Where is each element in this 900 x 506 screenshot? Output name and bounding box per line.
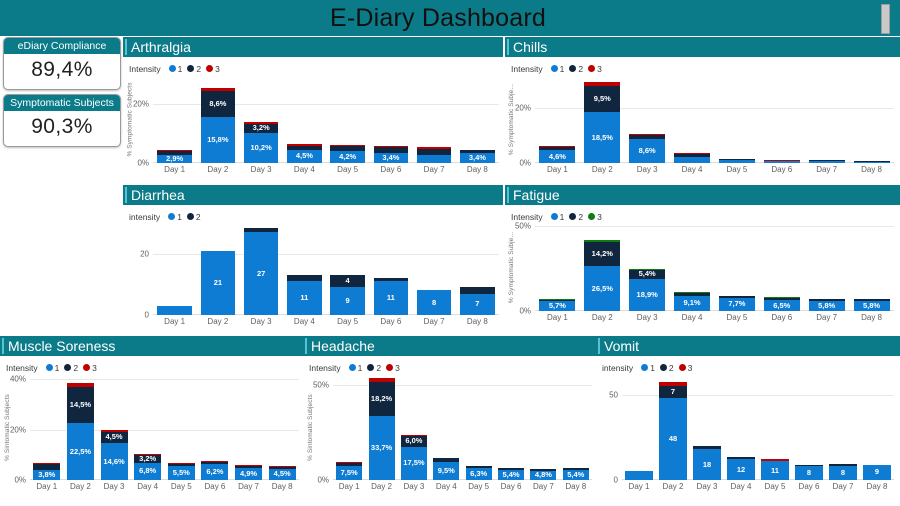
- legend-item-2[interactable]: 2: [187, 212, 201, 222]
- bar-value-label: 18,9%: [637, 291, 658, 299]
- x-axis-tick-label[interactable]: Day 2: [196, 163, 239, 174]
- bar-column[interactable]: 6,3%: [463, 374, 495, 480]
- bar-column[interactable]: 5,5%: [165, 374, 199, 480]
- x-axis-tick-label[interactable]: Day 4: [670, 311, 715, 322]
- x-axis-tick-label[interactable]: Day 7: [804, 311, 849, 322]
- stacked-bar[interactable]: [674, 153, 710, 163]
- bar-segment-intensity-1[interactable]: 5,4%: [498, 470, 524, 480]
- bar-column[interactable]: 6,2%: [198, 374, 232, 480]
- bar-value-label: 6,5%: [773, 302, 790, 310]
- legend-item-2[interactable]: 2: [187, 64, 201, 74]
- x-axis-tick-label[interactable]: Day 6: [495, 480, 527, 491]
- y-axis-tick-label: 0%: [317, 476, 329, 485]
- legend-item-label: 3: [597, 64, 602, 74]
- bar-column[interactable]: 748: [656, 374, 690, 480]
- bar-column[interactable]: 18,2%33,7%: [365, 374, 397, 480]
- x-axis-tick-label[interactable]: Day 6: [369, 163, 412, 174]
- bar-column[interactable]: 7: [456, 223, 499, 315]
- stacked-bar[interactable]: [764, 160, 800, 163]
- bar-value-label: 7,5%: [341, 469, 358, 477]
- bar-segment-intensity-1[interactable]: [417, 155, 452, 163]
- bar-segment-intensity-1[interactable]: 11: [374, 281, 409, 315]
- legend-item-label: 2: [376, 363, 381, 373]
- stacked-bar[interactable]: 14,5%22,5%: [67, 383, 94, 480]
- bar-segment-intensity-2[interactable]: 9,5%: [584, 86, 620, 112]
- bar-segment-intensity-1[interactable]: 9,5%: [433, 462, 459, 480]
- x-axis-tick-label[interactable]: Day 8: [265, 480, 299, 491]
- bar-segment-intensity-1[interactable]: 6,8%: [134, 463, 161, 480]
- bar-segment-intensity-1[interactable]: 14,6%: [101, 443, 128, 480]
- x-axis-tick-label[interactable]: Day 2: [580, 311, 625, 322]
- dashboard-header: E-Diary Dashboard: [0, 0, 900, 36]
- bar-column[interactable]: 11: [283, 223, 326, 315]
- legend-item-3[interactable]: 3: [83, 363, 97, 373]
- bar-column[interactable]: 5,4%: [495, 374, 527, 480]
- x-axis-tick-label[interactable]: Day 6: [369, 315, 412, 326]
- y-axis-tick-label: 0%: [14, 476, 26, 485]
- bar-segment-intensity-2[interactable]: 4: [330, 275, 365, 287]
- x-axis-tick-label[interactable]: Day 5: [326, 315, 369, 326]
- bar-segment-intensity-2[interactable]: 4,5%: [101, 432, 128, 443]
- x-axis-tick-label[interactable]: Day 4: [283, 163, 326, 174]
- bar-segment-intensity-1[interactable]: 26,5%: [584, 266, 620, 311]
- x-axis-tick-label[interactable]: Day 7: [232, 480, 266, 491]
- stacked-bar[interactable]: [809, 160, 845, 163]
- x-axis-tick-label[interactable]: Day 5: [715, 311, 760, 322]
- bar-segment-intensity-1[interactable]: 18,5%: [584, 112, 620, 163]
- bar-segment-intensity-2[interactable]: 3,2%: [244, 124, 279, 133]
- bar-segment-intensity-1[interactable]: 3,4%: [374, 153, 409, 163]
- bar-segment-intensity-1[interactable]: 27: [244, 232, 279, 315]
- stacked-bar[interactable]: 748: [659, 382, 686, 480]
- stacked-bar[interactable]: [157, 306, 192, 315]
- bar-column[interactable]: 5,4%18,9%: [625, 223, 670, 311]
- bar-segment-intensity-1[interactable]: 18: [693, 449, 720, 480]
- bar-value-label: 18: [703, 461, 711, 469]
- x-axis-tick-label[interactable]: Day 4: [430, 480, 462, 491]
- legend-item-1[interactable]: 1: [551, 212, 565, 222]
- stacked-bar[interactable]: 3,2%10,2%: [244, 122, 279, 163]
- bar-column[interactable]: [759, 75, 804, 163]
- bar-column[interactable]: 3,2%10,2%: [240, 75, 283, 163]
- stacked-bar[interactable]: 12: [727, 457, 754, 480]
- stacked-bar[interactable]: 3,4%: [374, 146, 409, 163]
- bar-value-label: 8: [841, 469, 845, 477]
- bar-column[interactable]: 9,5%18,5%: [580, 75, 625, 163]
- legend-item-2[interactable]: 2: [367, 363, 381, 373]
- stacked-bar[interactable]: 9,1%: [674, 292, 710, 311]
- x-axis-tick-label[interactable]: Day 3: [625, 163, 670, 174]
- x-axis-tick-label[interactable]: Day 5: [463, 480, 495, 491]
- bar-segment-intensity-1[interactable]: 4,9%: [235, 468, 262, 480]
- stacked-bar[interactable]: 9,5%: [433, 458, 459, 481]
- bar-segment-intensity-1[interactable]: 4,8%: [530, 471, 556, 480]
- legend-item-3[interactable]: 3: [588, 212, 602, 222]
- stacked-bar[interactable]: 2,9%: [157, 150, 192, 163]
- x-axis-tick-label[interactable]: Day 8: [456, 315, 499, 326]
- bar-column[interactable]: 5,8%: [849, 223, 894, 311]
- x-axis-tick-label[interactable]: Day 8: [849, 311, 894, 322]
- bar-segment-intensity-1[interactable]: [625, 471, 652, 480]
- bar-column[interactable]: 18: [690, 374, 724, 480]
- stacked-bar[interactable]: 8: [795, 465, 822, 480]
- legend-item-2[interactable]: 2: [64, 363, 78, 373]
- bar-segment-intensity-1[interactable]: [674, 157, 710, 163]
- stacked-bar[interactable]: 7: [460, 287, 495, 315]
- x-axis-tick-label[interactable]: Day 8: [456, 163, 499, 174]
- legend-item-3[interactable]: 3: [206, 64, 220, 74]
- bar-segment-intensity-1[interactable]: 9,1%: [674, 296, 710, 311]
- stacked-bar[interactable]: 3,4%: [460, 150, 495, 163]
- bar-segment-intensity-1[interactable]: 8: [829, 466, 856, 480]
- legend-item-1[interactable]: 1: [641, 363, 655, 373]
- legend-item-3[interactable]: 3: [679, 363, 693, 373]
- x-axis-tick-label[interactable]: Day 3: [240, 315, 283, 326]
- legend-title: intensity: [129, 212, 160, 222]
- bar-column[interactable]: 4,6%: [535, 75, 580, 163]
- bar-segment-intensity-1[interactable]: 7: [460, 294, 495, 315]
- bar-column[interactable]: 9,5%: [430, 374, 462, 480]
- stacked-bar[interactable]: 5,4%18,9%: [629, 269, 665, 311]
- bar-column[interactable]: 5,4%: [560, 374, 592, 480]
- legend-swatch-icon: [64, 364, 71, 371]
- bar-segment-intensity-1[interactable]: [764, 161, 800, 163]
- bar-value-label: 22,5%: [70, 448, 91, 456]
- bar-segment-intensity-1[interactable]: 8,6%: [629, 139, 665, 163]
- y-axis-tick-label: 0%: [137, 159, 149, 168]
- legend-item-label: 1: [560, 212, 565, 222]
- stacked-bar[interactable]: 18: [693, 446, 720, 480]
- x-axis-tick-label[interactable]: Day 6: [759, 311, 804, 322]
- x-axis-tick-label[interactable]: Day 5: [758, 480, 792, 491]
- bar-segment-intensity-2[interactable]: 5,4%: [629, 270, 665, 279]
- x-axis-tick-label[interactable]: Day 1: [535, 163, 580, 174]
- x-axis-tick-label[interactable]: Day 1: [153, 163, 196, 174]
- y-axis-tick-label: 0%: [519, 307, 531, 316]
- bar-segment-intensity-1[interactable]: 9: [863, 465, 890, 480]
- grid-area: 3,8%14,5%22,5%4,5%14,6%3,2%6,8%5,5%6,2%4…: [30, 374, 299, 480]
- bar-column[interactable]: 5,8%: [804, 223, 849, 311]
- bar-column[interactable]: 7,7%: [715, 223, 760, 311]
- bar-column[interactable]: 4,9%: [232, 374, 266, 480]
- bar-column[interactable]: 8,6%: [625, 75, 670, 163]
- bar-column[interactable]: [622, 374, 656, 480]
- stacked-bar[interactable]: 27: [244, 228, 279, 315]
- stacked-bar[interactable]: 7,7%: [719, 296, 755, 311]
- bar-column[interactable]: 4,5%: [283, 75, 326, 163]
- stacked-bar[interactable]: 6,3%: [466, 466, 492, 480]
- x-axis-tick-label[interactable]: Day 2: [64, 480, 98, 491]
- kpi-card-ediary-compliance[interactable]: eDiary Compliance 89,4%: [3, 37, 121, 90]
- bar-column[interactable]: 11: [758, 374, 792, 480]
- bar-segment-intensity-1[interactable]: 4,2%: [330, 151, 365, 163]
- bar-segment-intensity-2[interactable]: 18,2%: [369, 382, 395, 416]
- x-axis-tick-label[interactable]: Day 3: [690, 480, 724, 491]
- bar-column[interactable]: 14,2%26,5%: [580, 223, 625, 311]
- legend-item-1[interactable]: 1: [169, 64, 183, 74]
- bar-segment-intensity-1[interactable]: 3,8%: [33, 470, 60, 480]
- x-axis-tick-label[interactable]: Day 8: [560, 480, 592, 491]
- bar-segment-intensity-1[interactable]: 6,2%: [201, 464, 228, 480]
- bar-column[interactable]: 8: [826, 374, 860, 480]
- bar-segment-intensity-2[interactable]: 8,6%: [201, 91, 236, 116]
- x-axis-tick-label[interactable]: Day 7: [826, 480, 860, 491]
- kpi-label: eDiary Compliance: [4, 38, 120, 54]
- bar-segment-intensity-1[interactable]: 33,7%: [369, 416, 395, 480]
- bar-segment-intensity-1[interactable]: 4,5%: [269, 469, 296, 480]
- x-axis-tick-label[interactable]: Day 4: [670, 163, 715, 174]
- stacked-bar[interactable]: 5,8%: [809, 299, 845, 311]
- legend-item-1[interactable]: 1: [46, 363, 60, 373]
- bar-column[interactable]: [413, 75, 456, 163]
- legend-item-1[interactable]: 1: [349, 363, 363, 373]
- stacked-bar[interactable]: 4,5%: [287, 144, 322, 163]
- x-axis-tick-label[interactable]: Day 5: [165, 480, 199, 491]
- bar-segment-intensity-1[interactable]: 5,7%: [539, 301, 575, 311]
- bar-segment-intensity-1[interactable]: 5,4%: [563, 470, 589, 480]
- bar-column[interactable]: 14,5%22,5%: [64, 374, 98, 480]
- stacked-bar[interactable]: 8: [829, 464, 856, 480]
- bar-segment-intensity-1[interactable]: 5,8%: [854, 301, 890, 311]
- bar-column[interactable]: 5,7%: [535, 223, 580, 311]
- panel-title: Diarrhea: [131, 187, 185, 203]
- bar-segment-intensity-1[interactable]: 6,5%: [764, 300, 800, 311]
- x-axis-tick-label[interactable]: Day 1: [535, 311, 580, 322]
- bar-segment-intensity-1[interactable]: 8: [795, 466, 822, 480]
- stacked-bar[interactable]: 6,0%17,5%: [401, 435, 427, 480]
- bar-segment-intensity-1[interactable]: 21: [201, 251, 236, 315]
- x-axis-tick-label[interactable]: Day 1: [153, 315, 196, 326]
- kpi-card-group: eDiary Compliance 89,4% Symptomatic Subj…: [3, 37, 121, 151]
- stacked-bar[interactable]: 5,7%: [539, 299, 575, 311]
- bar-column[interactable]: [715, 75, 760, 163]
- bar-segment-intensity-2[interactable]: 14,5%: [67, 387, 94, 424]
- stacked-bar[interactable]: 9: [863, 465, 890, 480]
- bar-column[interactable]: [153, 223, 196, 315]
- x-axis-tick-label[interactable]: Day 1: [30, 480, 64, 491]
- x-axis-tick-label[interactable]: Day 6: [198, 480, 232, 491]
- bar-column[interactable]: 21: [196, 223, 239, 315]
- x-axis-tick-label[interactable]: Day 2: [656, 480, 690, 491]
- stacked-bar[interactable]: 4,6%: [539, 146, 575, 163]
- x-axis-tick-label[interactable]: Day 6: [759, 163, 804, 174]
- bar-column[interactable]: 7,5%: [333, 374, 365, 480]
- stacked-bar[interactable]: [719, 159, 755, 163]
- bar-column[interactable]: 6,0%17,5%: [398, 374, 430, 480]
- bar-column[interactable]: 9: [860, 374, 894, 480]
- stacked-bar[interactable]: 5,8%: [854, 299, 890, 311]
- bar-column[interactable]: [670, 75, 715, 163]
- bar-segment-intensity-1[interactable]: 7,7%: [719, 298, 755, 311]
- stacked-bar[interactable]: 11: [761, 459, 788, 480]
- stacked-bar[interactable]: 11: [287, 275, 322, 315]
- x-axis-labels: Day 1Day 2Day 3Day 4Day 5Day 6Day 7Day 8: [505, 311, 900, 322]
- bar-segment-intensity-1[interactable]: 8: [417, 290, 452, 315]
- bar-value-label: 6,0%: [405, 437, 422, 445]
- x-axis-tick-label[interactable]: Day 6: [792, 480, 826, 491]
- stacked-bar[interactable]: 8,6%: [629, 134, 665, 163]
- stacked-bar[interactable]: 6,2%: [201, 461, 228, 480]
- bar-column[interactable]: 2,9%: [153, 75, 196, 163]
- stacked-bar[interactable]: 21: [201, 251, 236, 315]
- bar-column[interactable]: 3,2%6,8%: [131, 374, 165, 480]
- bar-segment-intensity-1[interactable]: 9: [330, 287, 365, 315]
- x-axis-tick-label[interactable]: Day 7: [804, 163, 849, 174]
- stacked-bar[interactable]: 6,5%: [764, 297, 800, 311]
- bar-column[interactable]: 4,8%: [527, 374, 559, 480]
- stacked-bar[interactable]: 9,5%18,5%: [584, 82, 620, 163]
- bar-segment-intensity-1[interactable]: 11: [287, 281, 322, 315]
- x-axis-tick-label[interactable]: Day 7: [527, 480, 559, 491]
- bar-segment-intensity-1[interactable]: 18,9%: [629, 279, 665, 311]
- x-axis-tick-label[interactable]: Day 5: [715, 163, 760, 174]
- bar-segment-intensity-2[interactable]: 3,2%: [134, 455, 161, 463]
- stacked-bar[interactable]: 4,2%: [330, 145, 365, 163]
- panel-body-diarrhea: intensity12212711491187020Day 1Day 2Day …: [123, 205, 503, 333]
- stacked-bar[interactable]: 4,8%: [530, 469, 556, 480]
- stacked-bar[interactable]: 8: [417, 290, 452, 315]
- x-axis-tick-label[interactable]: Day 2: [365, 480, 397, 491]
- legend-item-1[interactable]: 1: [551, 64, 565, 74]
- stacked-bar[interactable]: [625, 471, 652, 480]
- panel-body-chills: Intensity123% Symptomatic Subje...4,6%9,…: [505, 57, 900, 183]
- bar-column[interactable]: 8: [792, 374, 826, 480]
- bar-column[interactable]: 8,6%15,8%: [196, 75, 239, 163]
- bar-column[interactable]: 3,4%: [369, 75, 412, 163]
- stacked-bar[interactable]: 4,9%: [235, 465, 262, 480]
- bar-segment-intensity-1[interactable]: 5,5%: [168, 466, 195, 480]
- vertical-scrollbar-thumb[interactable]: [881, 4, 890, 34]
- bar-segment-intensity-2[interactable]: 7: [659, 386, 686, 398]
- stacked-bar[interactable]: 49: [330, 275, 365, 315]
- stacked-bar[interactable]: 3,8%: [33, 463, 60, 480]
- bar-column[interactable]: 9,1%: [670, 223, 715, 311]
- legend-item-2[interactable]: 2: [569, 212, 583, 222]
- bar-value-label: 4,8%: [535, 471, 552, 479]
- x-axis-tick-label[interactable]: Day 7: [413, 315, 456, 326]
- bar-column[interactable]: 8: [413, 223, 456, 315]
- legend-item-3[interactable]: 3: [386, 363, 400, 373]
- page-title: E-Diary Dashboard: [0, 0, 900, 36]
- bar-segment-intensity-1[interactable]: 4,5%: [287, 150, 322, 163]
- legend-item-3[interactable]: 3: [588, 64, 602, 74]
- legend-title: Intensity: [511, 64, 543, 74]
- bar-segment-intensity-1[interactable]: 10,2%: [244, 133, 279, 163]
- bar-column[interactable]: [849, 75, 894, 163]
- x-axis-tick-label[interactable]: Day 5: [326, 163, 369, 174]
- bar-segment-intensity-1[interactable]: 12: [727, 459, 754, 480]
- bar-segment-intensity-1[interactable]: 48: [659, 398, 686, 480]
- bar-column[interactable]: 6,5%: [759, 223, 804, 311]
- bar-value-label: 5,8%: [863, 302, 880, 310]
- stacked-bar[interactable]: 4,5%: [269, 466, 296, 480]
- x-axis-tick-label[interactable]: Day 2: [196, 315, 239, 326]
- bar-column[interactable]: 4,5%: [265, 374, 299, 480]
- stacked-bar[interactable]: [854, 161, 890, 163]
- bar-segment-intensity-1[interactable]: 3,4%: [460, 153, 495, 163]
- stacked-bar[interactable]: [417, 147, 452, 163]
- stacked-bar[interactable]: 5,5%: [168, 463, 195, 480]
- chart-panel-muscle-soreness: Muscle SorenessIntensity123% Sintomatic …: [0, 336, 303, 506]
- bar-segment-intensity-1[interactable]: [809, 161, 845, 163]
- bar-segment-intensity-1[interactable]: [719, 160, 755, 163]
- chart-legend: Intensity123: [303, 356, 596, 374]
- bar-segment-intensity-1[interactable]: 2,9%: [157, 155, 192, 164]
- x-axis-tick-label[interactable]: Day 3: [240, 163, 283, 174]
- bar-segment-intensity-1[interactable]: [157, 306, 192, 315]
- x-axis-tick-label[interactable]: Day 8: [849, 163, 894, 174]
- stacked-bar[interactable]: 11: [374, 278, 409, 315]
- legend-swatch-icon: [168, 213, 175, 220]
- bar-column[interactable]: 3,4%: [456, 75, 499, 163]
- x-axis-tick-label[interactable]: Day 3: [398, 480, 430, 491]
- plot-area: % Sintomatic Subjects3,8%14,5%22,5%4,5%1…: [0, 374, 303, 480]
- legend-item-label: 3: [92, 363, 97, 373]
- bar-column[interactable]: 3,8%: [30, 374, 64, 480]
- x-axis-tick-label[interactable]: Day 8: [860, 480, 894, 491]
- legend-item-2[interactable]: 2: [569, 64, 583, 74]
- stacked-bar[interactable]: 18,2%33,7%: [369, 378, 395, 480]
- x-axis-tick-label[interactable]: Day 4: [724, 480, 758, 491]
- stacked-bar[interactable]: 5,4%: [498, 468, 524, 480]
- legend-swatch-icon: [569, 65, 576, 72]
- bar-segment-intensity-1[interactable]: [854, 162, 890, 163]
- bar-column[interactable]: 12: [724, 374, 758, 480]
- x-axis-tick-label[interactable]: Day 4: [283, 315, 326, 326]
- stacked-bar[interactable]: 3,2%6,8%: [134, 454, 161, 480]
- x-axis-tick-label[interactable]: Day 1: [622, 480, 656, 491]
- plot-area: 748181211889050: [596, 374, 900, 480]
- legend-item-1[interactable]: 1: [168, 212, 182, 222]
- x-axis-tick-label[interactable]: Day 3: [97, 480, 131, 491]
- x-axis-tick-label[interactable]: Day 4: [131, 480, 165, 491]
- x-axis-tick-label[interactable]: Day 1: [333, 480, 365, 491]
- x-axis-tick-label[interactable]: Day 3: [625, 311, 670, 322]
- bar-segment-intensity-1[interactable]: 7,5%: [336, 466, 362, 480]
- x-axis-tick-label[interactable]: Day 7: [413, 163, 456, 174]
- x-axis-labels: Day 1Day 2Day 3Day 4Day 5Day 6Day 7Day 8: [596, 480, 900, 491]
- bar-column[interactable]: 4,5%14,6%: [97, 374, 131, 480]
- stacked-bar[interactable]: 7,5%: [336, 462, 362, 480]
- bar-segment-intensity-1[interactable]: 22,5%: [67, 423, 94, 480]
- bar-column[interactable]: 4,2%: [326, 75, 369, 163]
- bar-segment-intensity-1[interactable]: 5,8%: [809, 301, 845, 311]
- legend-item-2[interactable]: 2: [660, 363, 674, 373]
- bar-segment-intensity-1[interactable]: 4,6%: [539, 150, 575, 163]
- bar-segment-intensity-2[interactable]: 14,2%: [584, 242, 620, 266]
- legend-swatch-icon: [187, 65, 194, 72]
- stacked-bar[interactable]: 14,2%26,5%: [584, 240, 620, 311]
- bar-segment-intensity-2[interactable]: 6,0%: [401, 436, 427, 447]
- bar-segment-intensity-1[interactable]: 15,8%: [201, 117, 236, 163]
- bar-segment-intensity-2[interactable]: [417, 149, 452, 156]
- x-axis-tick-label[interactable]: Day 2: [580, 163, 625, 174]
- bar-value-label: 4,2%: [339, 153, 356, 161]
- legend-swatch-icon: [588, 65, 595, 72]
- bar-value-label: 5,4%: [567, 471, 584, 479]
- bar-segment-intensity-1[interactable]: 6,3%: [466, 468, 492, 480]
- stacked-bar[interactable]: 5,4%: [563, 468, 589, 480]
- bar-column[interactable]: 11: [369, 223, 412, 315]
- bar-column[interactable]: 49: [326, 223, 369, 315]
- bar-segment-intensity-1[interactable]: 11: [761, 461, 788, 480]
- stacked-bar[interactable]: 8,6%15,8%: [201, 88, 236, 163]
- stacked-bar[interactable]: 4,5%14,6%: [101, 430, 128, 480]
- bar-column[interactable]: [804, 75, 849, 163]
- bar-column[interactable]: 27: [240, 223, 283, 315]
- bar-segment-intensity-1[interactable]: 17,5%: [401, 447, 427, 480]
- kpi-card-symptomatic-subjects[interactable]: Symptomatic Subjects 90,3%: [3, 94, 121, 147]
